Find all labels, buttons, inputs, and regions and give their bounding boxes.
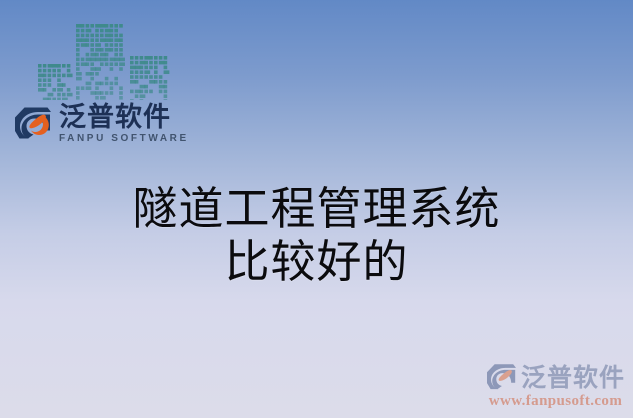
- watermark-url: www.fanpusoft.com: [489, 393, 622, 410]
- page-title-line-2: 比较好的: [0, 236, 633, 289]
- page-title: 隧道工程管理系统 比较好的: [0, 183, 633, 289]
- watermark: 泛普软件 www.fanpusoft.com: [486, 363, 625, 410]
- brand-wordmark: 泛普软件 FANPU SOFTWARE: [59, 103, 189, 145]
- pixel-skyline-decoration: [38, 20, 170, 100]
- fanpu-logo-mark-watermark-icon: [486, 363, 517, 392]
- watermark-logo-row: 泛普软件: [486, 363, 625, 392]
- page-title-line-1: 隧道工程管理系统: [0, 183, 633, 236]
- slide-canvas: 泛普软件 FANPU SOFTWARE 隧道工程管理系统 比较好的 泛普软件 w…: [0, 0, 633, 418]
- brand-name-en: FANPU SOFTWARE: [59, 132, 189, 145]
- brand-logo: 泛普软件 FANPU SOFTWARE: [14, 103, 189, 145]
- watermark-name-cn: 泛普软件: [521, 364, 625, 392]
- fanpu-logo-mark-icon: [14, 106, 52, 142]
- brand-name-cn: 泛普软件: [59, 103, 189, 132]
